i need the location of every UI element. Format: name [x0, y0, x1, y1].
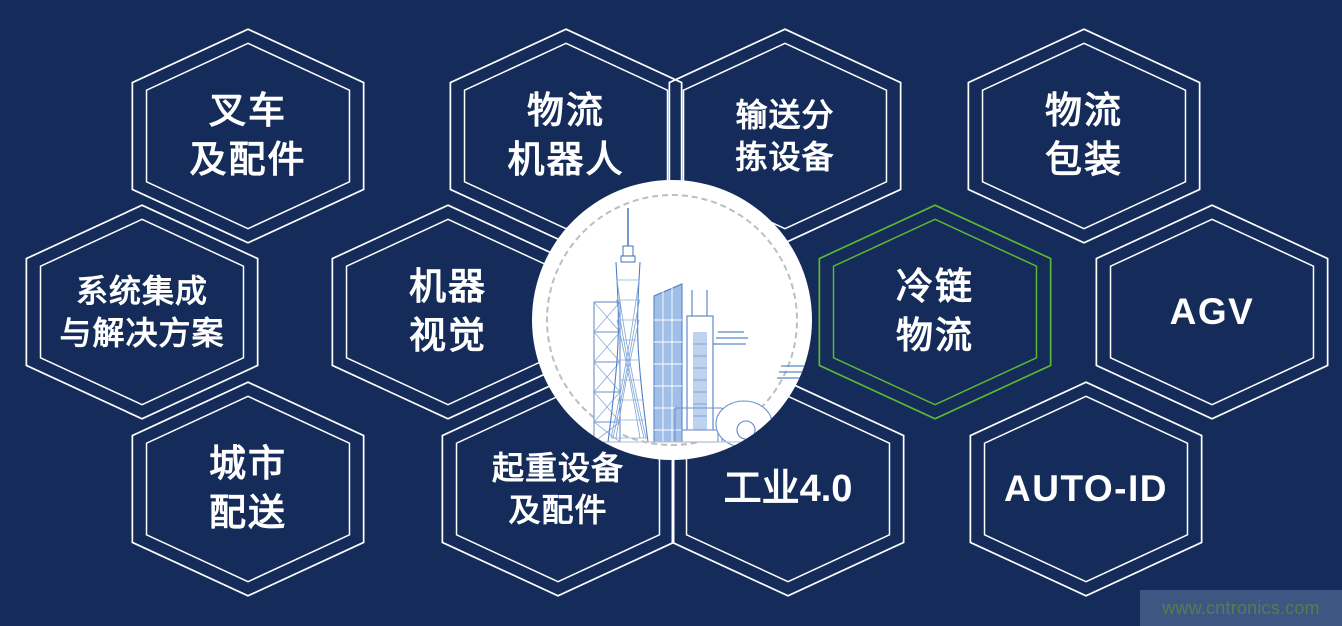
- watermark: www.cntronics.com: [1140, 590, 1342, 626]
- hexagon-outline: [968, 380, 1204, 598]
- center-circle-graphic: [532, 180, 812, 460]
- hexagon-auto-id[interactable]: AUTO-ID: [968, 380, 1204, 598]
- guangzhou-skyline-icon: [532, 180, 812, 460]
- hexagon-outline: [130, 380, 366, 598]
- watermark-text: www.cntronics.com: [1162, 598, 1319, 619]
- infographic-canvas: 叉车及配件物流机器人输送分拣设备物流包装系统集成与解决方案机器视觉冷链物流AGV…: [0, 0, 1342, 626]
- hexagon-city-distribution[interactable]: 城市配送: [130, 380, 366, 598]
